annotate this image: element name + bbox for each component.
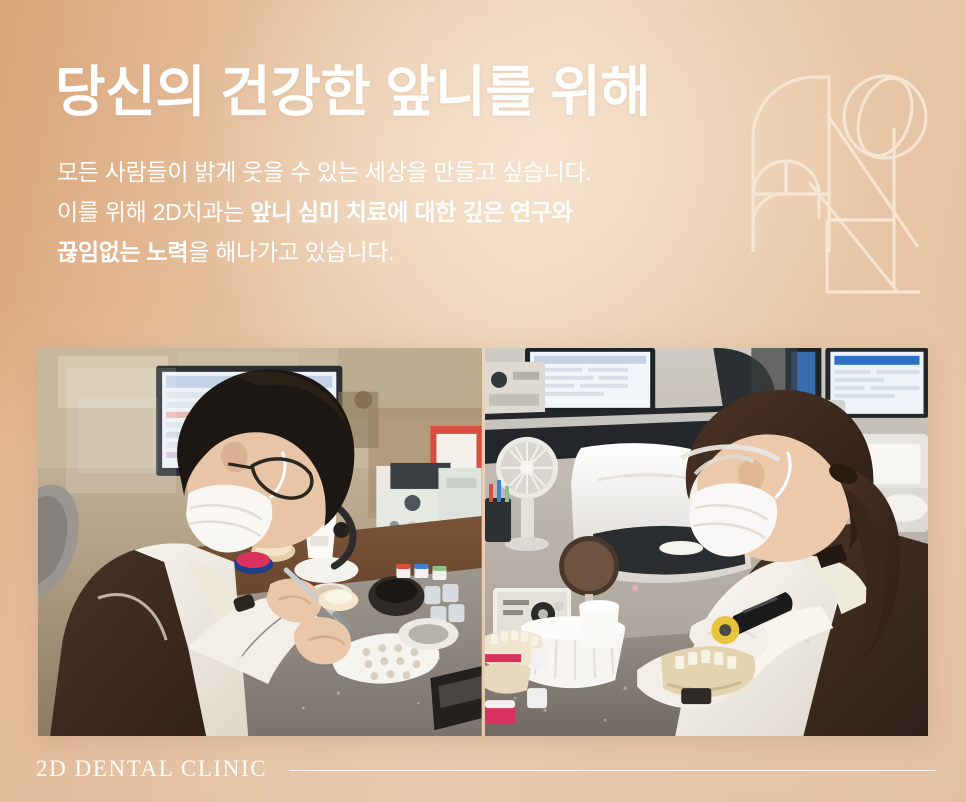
photo-gallery (38, 348, 928, 736)
photo-female-technician (485, 348, 929, 736)
footer: 2D DENTAL CLINIC (36, 752, 936, 786)
subcopy-line-2-highlight: 앞니 심미 치료에 대한 깊은 연구와 (250, 199, 573, 225)
subcopy-line-3: 끊임없는 노력을 해나가고 있습니다. (57, 232, 592, 272)
subcopy-line-3-suffix: 을 해나가고 있습니다. (188, 239, 394, 265)
subcopy-line-1: 모든 사람들이 밝게 웃을 수 있는 세상을 만들고 싶습니다. (57, 152, 592, 192)
subcopy-line-2: 이를 위해 2D치과는 앞니 심미 치료에 대한 깊은 연구와 (57, 192, 592, 232)
subcopy-line-1-text: 모든 사람들이 밝게 웃을 수 있는 세상을 만들고 싶습니다. (57, 159, 592, 185)
page-title: 당신의 건강한 앞니를 위해 (55, 62, 650, 124)
brand-logo-text: 2D DENTAL CLINIC (36, 756, 267, 782)
subcopy-line-2-prefix: 이를 위해 2D치과는 (57, 199, 250, 225)
hero-subcopy: 모든 사람들이 밝게 웃을 수 있는 세상을 만들고 싶습니다. 이를 위해 2… (57, 152, 592, 272)
2d-monogram-watermark (748, 72, 948, 297)
footer-divider (289, 770, 936, 771)
photo-male-technician (38, 348, 482, 736)
subcopy-line-3-highlight: 끊임없는 노력 (57, 239, 188, 265)
promo-banner: 당신의 건강한 앞니를 위해 모든 사람들이 밝게 웃을 수 있는 세상을 만들… (0, 0, 966, 802)
